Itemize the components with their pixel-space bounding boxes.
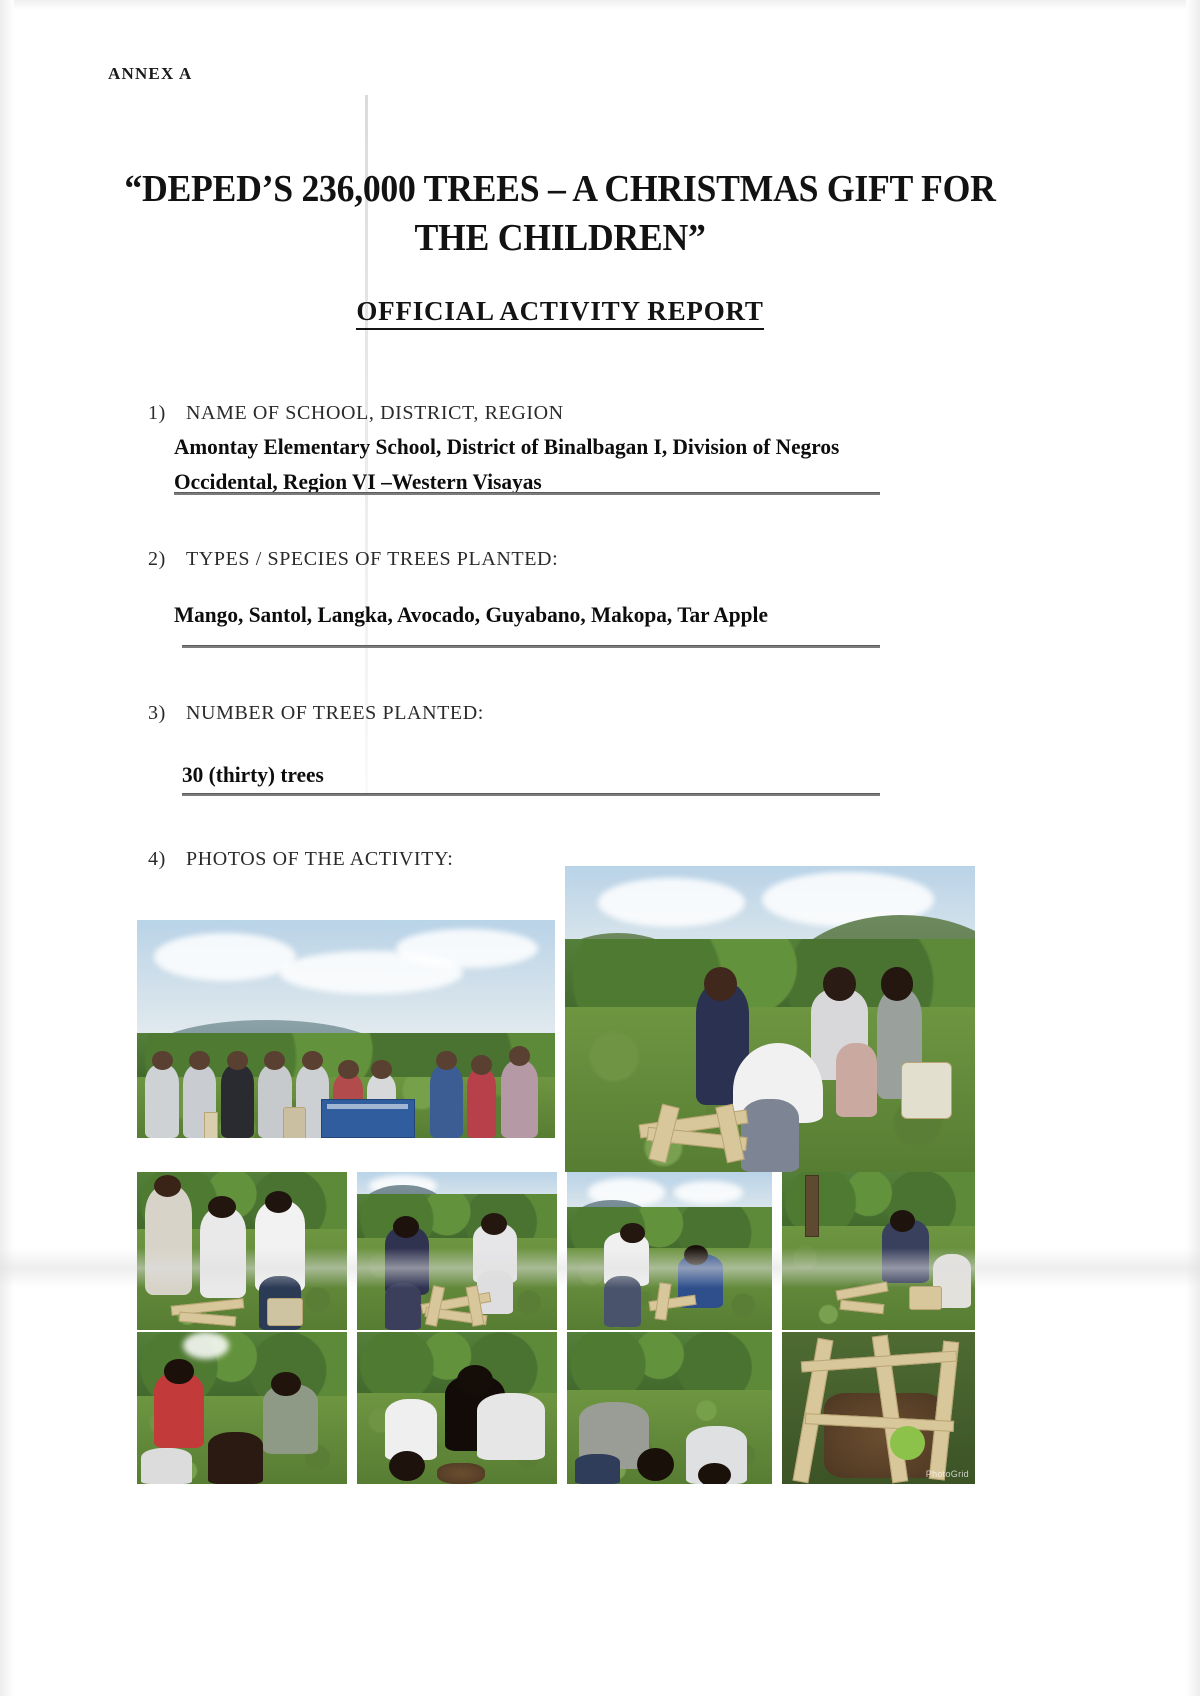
item-1-label-line: 1)NAME OF SCHOOL, DISTRICT, REGION (148, 402, 564, 425)
item-2-answer-line-1: Mango, Santol, Langka, Avocado, Guyabano… (174, 598, 768, 631)
item-1-label-text: NAME OF SCHOOL, DISTRICT, REGION (186, 402, 564, 424)
item-4-number: 4) (148, 848, 186, 871)
item-2-answer-rule (182, 645, 880, 648)
item-3-label-row: 3)NUMBER OF TREES PLANTED: (148, 702, 484, 725)
item-2-label-row: 2)TYPES / SPECIES OF TREES PLANTED: (148, 548, 558, 571)
annex-label: ANNEX A (108, 64, 192, 84)
document-page: ANNEX A “DEPED’S 236,000 TREES – A CHRIS… (0, 0, 1200, 1696)
item-1-label-row: 1)NAME OF SCHOOL, DISTRICT, REGION (148, 402, 564, 425)
document-subtitle: OFFICIAL ACTIVITY REPORT (356, 296, 763, 330)
photo-group-kneeling-planting-seedling (357, 1332, 557, 1484)
item-3-label-text: NUMBER OF TREES PLANTED: (186, 702, 484, 724)
photo-boy-digging-beside-bamboo-frame (782, 1172, 975, 1330)
photo-two-pupils-bending-to-plant (567, 1332, 772, 1484)
photo-woman-and-boy-building-bamboo-frame (357, 1172, 557, 1330)
photo-group-with-blue-banner (137, 920, 555, 1138)
scan-edge-left (0, 0, 14, 1696)
item-2-number: 2) (148, 548, 186, 571)
item-2-label-line: 2)TYPES / SPECIES OF TREES PLANTED: (148, 548, 558, 571)
scan-edge-top (0, 0, 1200, 10)
item-2-label-text: TYPES / SPECIES OF TREES PLANTED: (186, 548, 558, 570)
photo-planting-group-with-watering-can (565, 866, 975, 1172)
item-4-label-row: 4)PHOTOS OF THE ACTIVITY: (148, 848, 453, 871)
item-1-number: 1) (148, 402, 186, 425)
item-3-answer-line-1: 30 (thirty) trees (182, 758, 324, 791)
photogrid-watermark: PhotoGrid (926, 1469, 969, 1479)
item-1-answer-line-1: Amontay Elementary School, District of B… (174, 430, 839, 463)
photo-woman-and-boy-digging (567, 1172, 772, 1330)
item-4-label-line: 4)PHOTOS OF THE ACTIVITY: (148, 848, 453, 871)
scan-edge-right (1186, 0, 1200, 1696)
item-1-answer-rule (174, 492, 880, 495)
item-3-number: 3) (148, 702, 186, 725)
photo-teacher-and-two-boys-bamboo-frame (137, 1172, 347, 1330)
document-title: “DEPED’S 236,000 TREES – A CHRISTMAS GIF… (90, 165, 1030, 262)
item-3-label-line: 3)NUMBER OF TREES PLANTED: (148, 702, 484, 725)
document-subtitle-wrap: OFFICIAL ACTIVITY REPORT (60, 296, 1060, 327)
photo-bamboo-tree-guard-over-seedling: PhotoGrid (782, 1332, 975, 1484)
item-4-label-text: PHOTOS OF THE ACTIVITY: (186, 848, 453, 870)
item-3-answer-rule (182, 793, 880, 796)
photo-boy-red-shirt-and-girl-planting (137, 1332, 347, 1484)
